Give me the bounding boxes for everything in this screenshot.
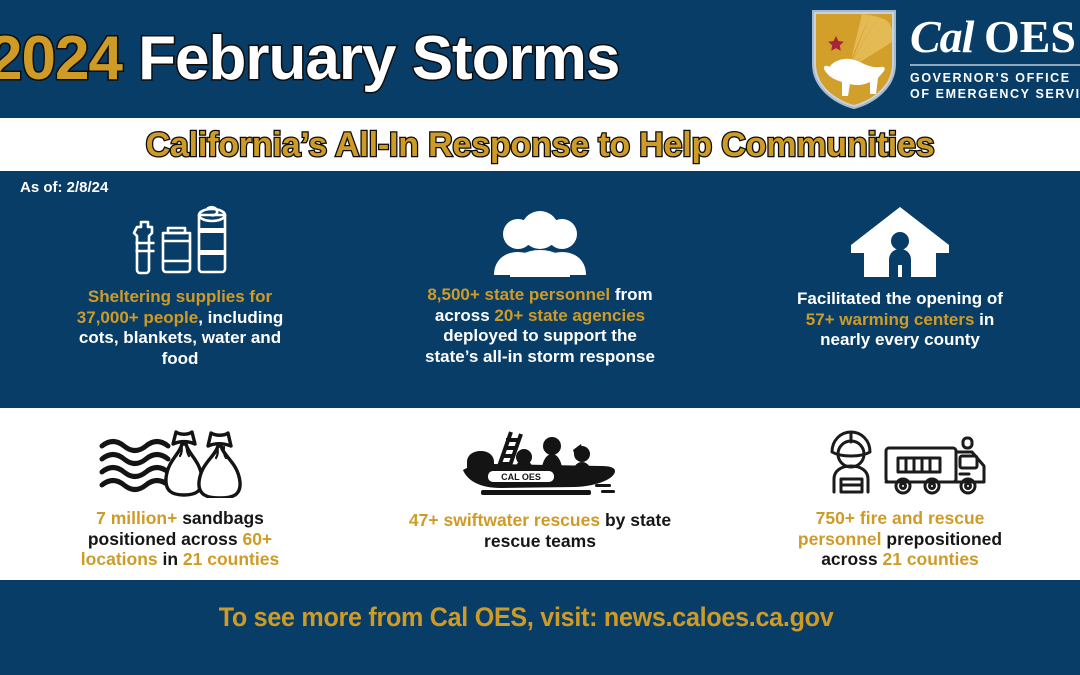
footer-link-text[interactable]: To see more from Cal OES, visit: news.ca… xyxy=(38,602,1042,633)
stat-text-shelter-supplies: Sheltering supplies for 37,000+ people, … xyxy=(70,287,290,369)
rescue-boat-icon: CAL OES xyxy=(445,426,635,498)
stat-card-shelter-supplies: Sheltering supplies for 37,000+ people, … xyxy=(0,195,360,369)
stat-run: 47+ swiftwater rescues xyxy=(409,510,605,530)
title-year: 2024 xyxy=(0,24,122,93)
sandbags-icon xyxy=(90,426,270,498)
stat-card-fire-rescue-personnel: 750+ fire and rescue personnel prepositi… xyxy=(720,426,1080,570)
people-group-icon xyxy=(480,195,600,279)
white-stats-section: 7 million+ sandbags positioned across 60… xyxy=(0,408,1080,580)
stat-text-state-personnel: 8,500+ state personnel from across 20+ s… xyxy=(420,285,660,367)
stat-text-swiftwater-rescues: 47+ swiftwater rescues by state rescue t… xyxy=(405,510,675,551)
logo-word-cal: Cal xyxy=(910,11,984,62)
logo-subtitle-line2: OF EMERGENCY SERVICES xyxy=(910,86,1080,102)
fire-truck-icon xyxy=(810,426,990,498)
as-of-label: As of: 2/8/24 xyxy=(20,179,108,196)
stat-run: 21 counties xyxy=(883,549,979,569)
footer-bar: To see more from Cal OES, visit: news.ca… xyxy=(0,580,1080,675)
stat-run: 21 counties xyxy=(183,549,279,569)
stat-card-swiftwater-rescues: CAL OES 47+ swiftwater rescues by state … xyxy=(360,426,720,570)
subtitle-text: California’s All-In Response to Help Com… xyxy=(0,122,1080,168)
stat-card-state-personnel: 8,500+ state personnel from across 20+ s… xyxy=(360,195,720,369)
stat-run: 7 million+ xyxy=(96,508,182,528)
cal-oes-shield-icon xyxy=(806,6,902,110)
logo-subtitle-line1: GOVERNOR'S OFFICE xyxy=(910,70,1080,86)
stat-run: Facilitated the opening of xyxy=(797,289,1003,308)
cal-oes-wordmark: Cal OES xyxy=(910,14,1080,61)
stat-run: 8,500+ state personnel xyxy=(427,285,615,304)
stat-text-warming-centers: Facilitated the opening of 57+ warming c… xyxy=(791,289,1009,351)
logo-subtitle: GOVERNOR'S OFFICE OF EMERGENCY SERVICES xyxy=(910,70,1080,102)
title-text: February Storms xyxy=(122,24,619,93)
stat-text-sandbags: 7 million+ sandbags positioned across 60… xyxy=(50,508,310,570)
infographic-page: 2024 February Storms xyxy=(0,0,1080,675)
header-bar: 2024 February Storms xyxy=(0,0,1080,118)
stat-text-fire-rescue-personnel: 750+ fire and rescue personnel prepositi… xyxy=(775,508,1025,570)
boat-label: CAL OES xyxy=(501,472,541,482)
stat-run: 20+ state agencies xyxy=(494,306,645,325)
shelter-supplies-icon xyxy=(125,195,235,279)
logo-word-oes: OES xyxy=(984,11,1076,62)
logo-divider xyxy=(910,64,1080,66)
navy-stats-section: As of: 2/8/24 xyxy=(0,171,1080,408)
stat-run: deployed to support the state’s all-in s… xyxy=(425,326,655,366)
stat-run: in xyxy=(162,549,182,569)
subtitle-band: California’s All-In Response to Help Com… xyxy=(0,118,1080,171)
stat-card-warming-centers: Facilitated the opening of 57+ warming c… xyxy=(720,195,1080,369)
page-title: 2024 February Storms xyxy=(0,16,788,102)
cal-oes-logo: Cal OES GOVERNOR'S OFFICE OF EMERGENCY S… xyxy=(806,6,1080,110)
stat-card-sandbags: 7 million+ sandbags positioned across 60… xyxy=(0,426,360,570)
stat-run: 57+ warming centers xyxy=(806,310,979,329)
warming-center-house-icon xyxy=(845,195,955,279)
